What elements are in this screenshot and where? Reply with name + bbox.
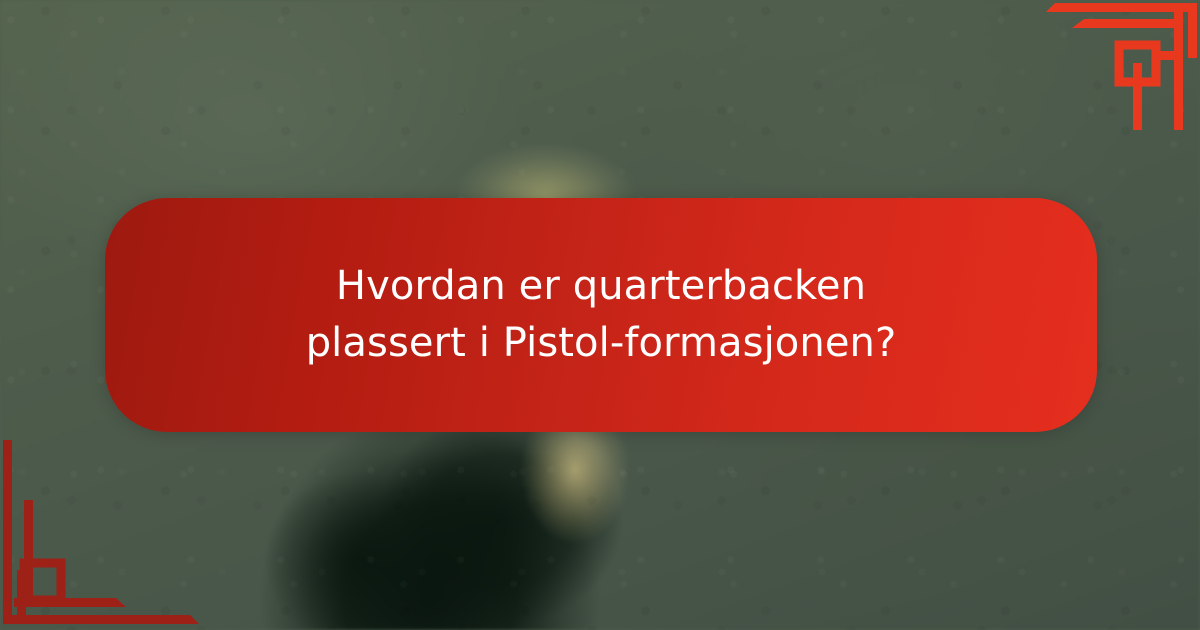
- quiz-card-canvas: Hvordan er quarterbacken plassert i Pist…: [0, 0, 1200, 630]
- question-banner: Hvordan er quarterbacken plassert i Pist…: [105, 198, 1097, 432]
- question-text: Hvordan er quarterbacken plassert i Pist…: [181, 258, 1021, 372]
